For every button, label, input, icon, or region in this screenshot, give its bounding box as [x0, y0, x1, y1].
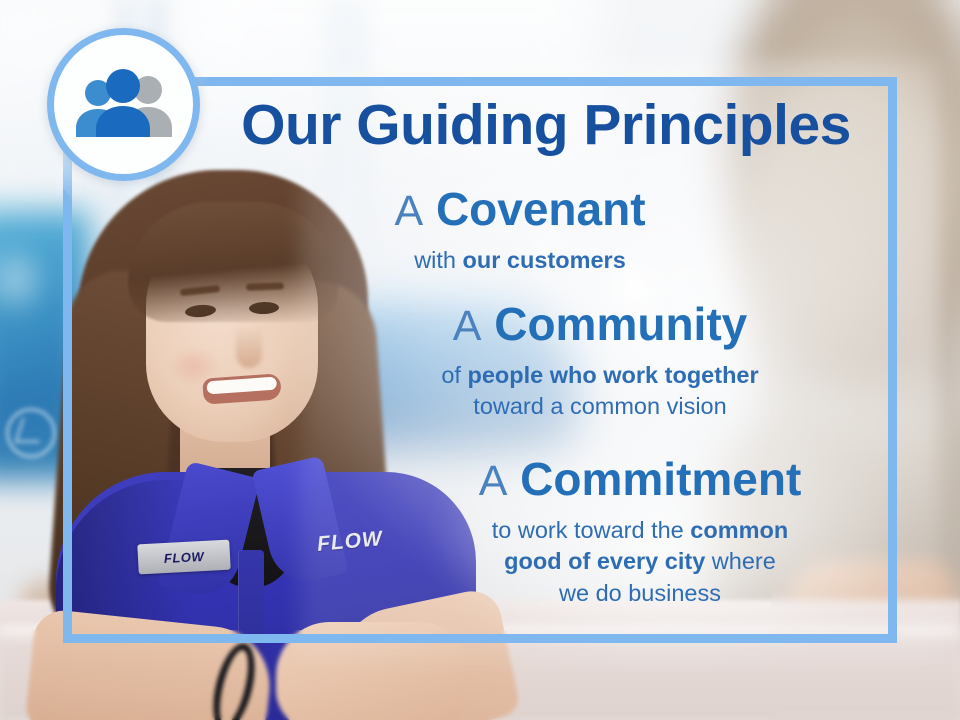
principle-keyword: Community	[494, 298, 747, 350]
subtext-line-2: good of every city where	[380, 546, 900, 577]
principle-keyword: Commitment	[520, 453, 801, 505]
principle-subtext-community: of people who work together toward a com…	[340, 360, 860, 423]
page-title: Our Guiding Principles	[216, 96, 876, 156]
depth-of-field-bottom	[0, 630, 960, 720]
people-group-badge	[47, 28, 200, 181]
subtext-bold: common	[690, 517, 788, 543]
subtext-plain-2: where	[705, 548, 776, 574]
principle-block-covenant: A Covenant with our customers	[300, 185, 740, 276]
woman-teeth	[206, 377, 277, 395]
subtext-line-2: toward a common vision	[340, 391, 860, 422]
subtext-plain: to work toward the	[492, 517, 691, 543]
subtext-bold-2: good of every city	[504, 548, 705, 574]
subtext-bold: our customers	[463, 247, 626, 273]
principle-subtext-commitment: to work toward the common good of every …	[380, 515, 900, 609]
poster-canvas: FLOW FLOW	[0, 0, 960, 720]
principle-article: A	[394, 187, 423, 235]
flow-name-badge: FLOW	[137, 540, 230, 575]
subtext-bold: people who work together	[467, 362, 758, 388]
principle-subtext-covenant: with our customers	[300, 245, 740, 276]
woman-smile	[202, 373, 282, 404]
woman-nose	[236, 326, 262, 368]
principle-article: A	[453, 302, 482, 350]
principle-headline-community: A Community	[340, 300, 860, 350]
principle-article: A	[479, 457, 508, 505]
flow-shirt-logo-text: FLOW	[316, 527, 384, 557]
flow-name-badge-text: FLOW	[163, 548, 204, 565]
principle-block-commitment: A Commitment to work toward the common g…	[380, 455, 900, 609]
principle-block-community: A Community of people who work together …	[340, 300, 860, 423]
subtext-plain: with	[414, 247, 462, 273]
principle-keyword: Covenant	[436, 183, 646, 235]
subtext-line: to work toward the common	[380, 515, 900, 546]
principle-headline-covenant: A Covenant	[300, 185, 740, 235]
subtext-line: of people who work together	[340, 360, 860, 391]
principle-headline-commitment: A Commitment	[380, 455, 900, 505]
subtext-line-3: we do business	[380, 578, 900, 609]
people-group-icon	[72, 66, 176, 144]
subtext-plain: of	[441, 362, 467, 388]
